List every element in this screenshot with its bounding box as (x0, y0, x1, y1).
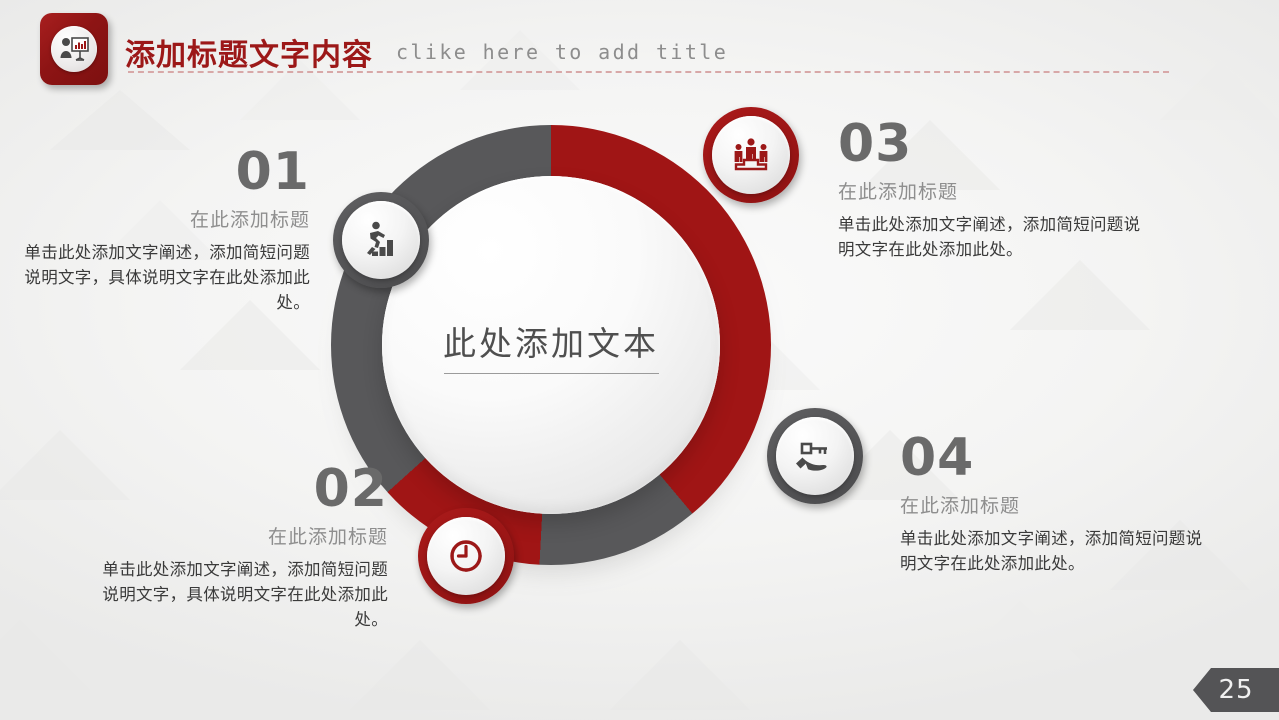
block-02-body: 单击此处添加文字阐述，添加简短问题说明文字，具体说明文字在此处添加此处。 (96, 558, 388, 633)
page-subtitle: clike here to add title (396, 40, 728, 64)
block-01-number: 01 (18, 146, 310, 198)
block-04-number: 04 (900, 432, 1210, 484)
central-diagram: 此处添加文本 (331, 125, 771, 565)
hand-holding-key-icon (776, 417, 854, 495)
page-number-value: 25 (1218, 675, 1253, 705)
text-block-02: 02 在此添加标题 单击此处添加文字阐述，添加简短问题说明文字，具体说明文字在此… (96, 463, 388, 633)
text-block-03: 03 在此添加标题 单击此处添加文字阐述，添加简短问题说明文字在此处添加此处。 (838, 118, 1156, 263)
block-02-subtitle: 在此添加标题 (96, 522, 388, 549)
people-podium-icon (712, 116, 790, 194)
node-03[interactable] (703, 107, 799, 203)
node-04[interactable] (767, 408, 863, 504)
block-03-body: 单击此处添加文字阐述，添加简短问题说明文字在此处添加此处。 (838, 213, 1156, 263)
slide-header: 添加标题文字内容 clike here to add title (0, 0, 1279, 95)
center-disc[interactable]: 此处添加文本 (382, 176, 720, 514)
center-underline (444, 373, 659, 374)
center-label: 此处添加文本 (443, 317, 659, 365)
running-person-bar-chart-icon (342, 201, 420, 279)
page-number-badge: 25 (1193, 668, 1279, 712)
presenter-chart-icon (51, 26, 97, 72)
block-02-number: 02 (96, 463, 388, 515)
node-02[interactable] (418, 508, 514, 604)
clock-icon (427, 517, 505, 595)
header-divider (128, 71, 1169, 73)
block-04-body: 单击此处添加文字阐述，添加简短问题说明文字在此处添加此处。 (900, 527, 1210, 577)
page-title: 添加标题文字内容 (125, 30, 373, 74)
block-03-number: 03 (838, 118, 1156, 170)
header-badge (40, 13, 108, 85)
block-01-body: 单击此处添加文字阐述，添加简短问题说明文字，具体说明文字在此处添加此处。 (18, 241, 310, 316)
text-block-01: 01 在此添加标题 单击此处添加文字阐述，添加简短问题说明文字，具体说明文字在此… (18, 146, 310, 316)
block-01-subtitle: 在此添加标题 (18, 205, 310, 232)
block-03-subtitle: 在此添加标题 (838, 177, 1156, 204)
block-04-subtitle: 在此添加标题 (900, 491, 1210, 518)
text-block-04: 04 在此添加标题 单击此处添加文字阐述，添加简短问题说明文字在此处添加此处。 (900, 432, 1210, 577)
node-01[interactable] (333, 192, 429, 288)
